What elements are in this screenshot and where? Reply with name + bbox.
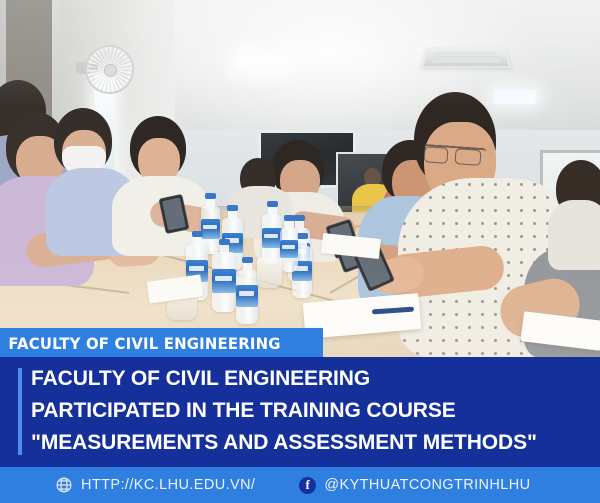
bottle-neck (285, 220, 294, 229)
website-url: HTTP://KC.LHU.EDU.VN/ (81, 477, 255, 493)
ceiling-light-right (493, 90, 537, 104)
bottle-cap (242, 257, 253, 263)
title-line-1: FACULTY OF CIVIL ENGINEERING (31, 363, 592, 395)
title-line-3: "MEASUREMENTS AND ASSESSMENT METHODS" (31, 427, 592, 459)
faculty-tag-label: FACULTY OF CIVIL ENGINEERING (0, 334, 281, 353)
eyeglass-lens (454, 148, 481, 166)
globe-icon (55, 476, 73, 494)
facebook-link[interactable]: f @KYTHUATCONGTRINHLHU (299, 477, 530, 494)
bottle-cap (284, 215, 295, 221)
bottle-label (212, 269, 236, 293)
title-line-2: PARTICIPATED IN THE TRAINING COURSE (31, 395, 592, 427)
title-accent-bar (18, 368, 22, 455)
bottle-cap (267, 201, 278, 207)
facebook-icon: f (299, 477, 316, 494)
footer-bar: HTTP://KC.LHU.EDU.VN/ f @KYTHUATCONGTRIN… (0, 467, 600, 503)
ceiling-light-left (236, 55, 289, 69)
fan-hub (104, 64, 117, 77)
phone-screen (162, 197, 186, 230)
bottle-neck (298, 238, 307, 247)
facebook-handle: @KYTHUATCONGTRINHLHU (324, 477, 530, 493)
faculty-tag-bar: FACULTY OF CIVIL ENGINEERING (0, 328, 323, 358)
bottle-cap (297, 233, 308, 239)
website-link[interactable]: HTTP://KC.LHU.EDU.VN/ (55, 476, 255, 494)
water-bottle (212, 252, 236, 312)
bottle-label (236, 285, 258, 307)
bottle-cap (205, 193, 216, 199)
bottle-neck (295, 220, 304, 229)
bottle-neck (193, 236, 202, 245)
bottle-cap (219, 239, 230, 245)
bottle-label (280, 240, 298, 258)
facebook-f-glyph: f (306, 478, 311, 491)
bottle-cap (192, 231, 203, 237)
bottle-cap (227, 205, 238, 211)
wall-fan-icon (85, 45, 134, 94)
water-bottle (280, 228, 298, 272)
water-bottle (236, 270, 258, 324)
water-bottle (262, 214, 282, 264)
bottle-cap (294, 215, 305, 221)
eyeglass-lens (423, 146, 448, 164)
bottle-neck (220, 244, 229, 253)
ac-grill (433, 52, 499, 62)
poster: FACULTY OF CIVIL ENGINEERING FACULTY OF … (0, 0, 600, 503)
ceiling-ac-unit (421, 48, 511, 68)
title-lines: FACULTY OF CIVIL ENGINEERING PARTICIPATE… (31, 363, 592, 459)
bottle-neck (243, 262, 252, 271)
event-photo (0, 0, 600, 358)
bottle-label (201, 219, 220, 238)
bottle-label (262, 228, 282, 248)
bottle-neck (268, 206, 277, 215)
glass-cup (257, 258, 282, 288)
bottle-neck (206, 198, 215, 207)
person-body (548, 200, 600, 270)
title-block: FACULTY OF CIVIL ENGINEERING PARTICIPATE… (0, 357, 600, 467)
bottle-neck (228, 210, 237, 219)
